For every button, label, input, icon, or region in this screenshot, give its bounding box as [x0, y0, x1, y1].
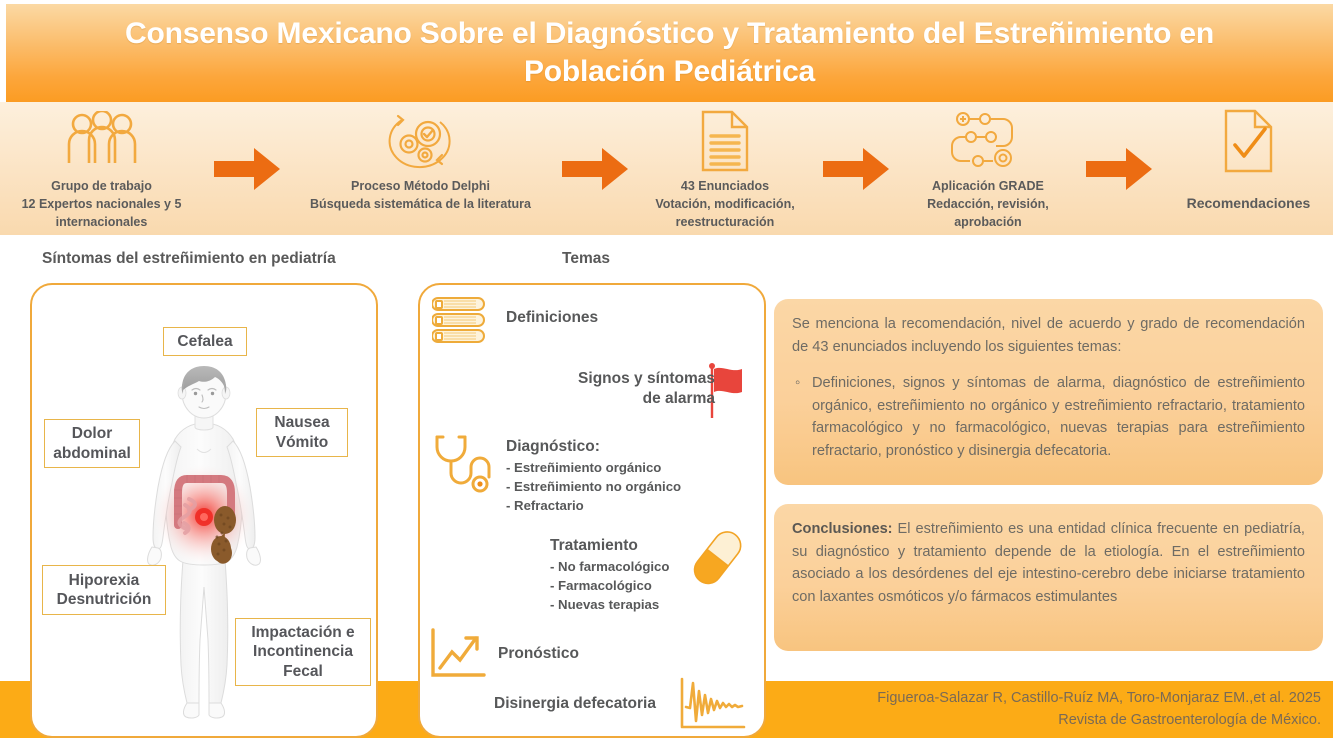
tema-definiciones: Definiciones: [506, 308, 598, 328]
symptom-box-nausea-vomito: Nausea Vómito: [256, 408, 348, 457]
tema-diagnostico-title: Diagnóstico:: [506, 437, 681, 457]
gears-cycle-icon: [382, 110, 460, 172]
workflow-step-43-enunciados: 43 Enunciados Votación, modificación, re…: [638, 102, 812, 231]
temas-card-lead: Se menciona la recomendación, nivel de a…: [792, 313, 1305, 358]
tema-tratamiento-items: - No farmacológico - Farmacológico - Nue…: [550, 558, 669, 613]
conclusiones-card: Conclusiones: El estreñimiento es una en…: [774, 504, 1323, 651]
document-check-icon: [1221, 110, 1275, 172]
tema-pronostico: Pronóstico: [498, 644, 579, 664]
trend-up-chart-icon: [428, 628, 490, 685]
stacked-books-icon: [432, 292, 494, 359]
conclusiones-paragraph: Conclusiones: El estreñimiento es una en…: [792, 518, 1305, 608]
symptom-lines: Dolor abdominal: [53, 424, 131, 462]
workflow-step-label: Proceso Método Delphi Búsqueda sistemáti…: [310, 178, 531, 214]
symptom-box-hiporexia-desnutricion: Hiporexia Desnutrición: [42, 565, 166, 615]
workflow-strip: Grupo de trabajo 12 Expertos nacionales …: [0, 102, 1333, 235]
symptom-lines: Nausea Vómito: [274, 413, 329, 451]
symptom-box-impactacion-incontinencia-fecal: Impactación e Incontinencia Fecal: [235, 618, 371, 686]
temas-section-caption: Temas: [562, 250, 610, 268]
symptom-box-cefalea: Cefalea: [163, 327, 247, 356]
arrow-right-icon-1: [203, 102, 290, 235]
symptom-box-dolor-abdominal: Dolor abdominal: [44, 419, 140, 468]
citation-journal: Revista de Gastroenterología de México.: [761, 710, 1321, 732]
tema-signos-sintomas-alarma: Signos y síntomas de alarma: [557, 369, 715, 409]
temas-summary-card: Se menciona la recomendación, nivel de a…: [774, 299, 1323, 485]
symptoms-section-caption: Síntomas del estreñimiento en pediatría: [42, 250, 336, 268]
workflow-step-grupo-de-trabajo: Grupo de trabajo 12 Expertos nacionales …: [0, 102, 203, 231]
tema-tratamiento-title: Tratamiento: [550, 536, 669, 556]
tema-diagnostico: Diagnóstico: - Estreñimiento orgánico - …: [506, 437, 681, 515]
arrow-right-icon-3: [812, 102, 901, 235]
workflow-step-label: 43 Enunciados Votación, modificación, re…: [655, 178, 794, 231]
workflow-step-label: Recomendaciones: [1187, 194, 1311, 214]
workflow-step-recomendaciones: Recomendaciones: [1164, 102, 1333, 214]
document-lines-icon: [699, 110, 751, 172]
tema-disinergia-defecatoria: Disinergia defecatoria: [494, 694, 656, 714]
workflow-step-label: Grupo de trabajo 12 Expertos nacionales …: [22, 178, 182, 231]
symptom-lines: Hiporexia Desnutrición: [57, 571, 152, 609]
tema-diagnostico-items: - Estreñimiento orgánico - Estreñimiento…: [506, 459, 681, 514]
symptom-lines: Impactación e Incontinencia Fecal: [251, 623, 354, 681]
workflow-step-aplicacion-grade: Aplicación GRADE Redacción, revisión, ap…: [901, 102, 1075, 231]
workflow-step-label: Aplicación GRADE Redacción, revisión, ap…: [927, 178, 1049, 231]
temas-card-bullet: Definiciones, signos y síntomas de alarm…: [792, 372, 1305, 462]
conclusiones-label: Conclusiones:: [792, 521, 893, 537]
tema-tratamiento: Tratamiento - No farmacológico - Farmaco…: [550, 536, 669, 614]
infographic-canvas: Consenso Mexicano Sobre el Diagnóstico y…: [0, 0, 1333, 746]
header-banner: Consenso Mexicano Sobre el Diagnóstico y…: [6, 4, 1333, 102]
manometry-waveform-icon: [678, 677, 750, 738]
network-nodes-icon: [949, 110, 1027, 172]
group-of-people-icon: [59, 110, 145, 172]
stethoscope-icon: [427, 431, 495, 508]
citation: Figueroa-Salazar R, Castillo-Ruíz MA, To…: [761, 688, 1321, 732]
workflow-step-metodo-delphi: Proceso Método Delphi Búsqueda sistemáti…: [290, 102, 551, 214]
arrow-right-icon-4: [1075, 102, 1164, 235]
citation-authors: Figueroa-Salazar R, Castillo-Ruíz MA, To…: [761, 688, 1321, 710]
page-title: Consenso Mexicano Sobre el Diagnóstico y…: [60, 15, 1280, 91]
pill-capsule-icon: [690, 527, 746, 594]
arrow-right-icon-2: [551, 102, 638, 235]
